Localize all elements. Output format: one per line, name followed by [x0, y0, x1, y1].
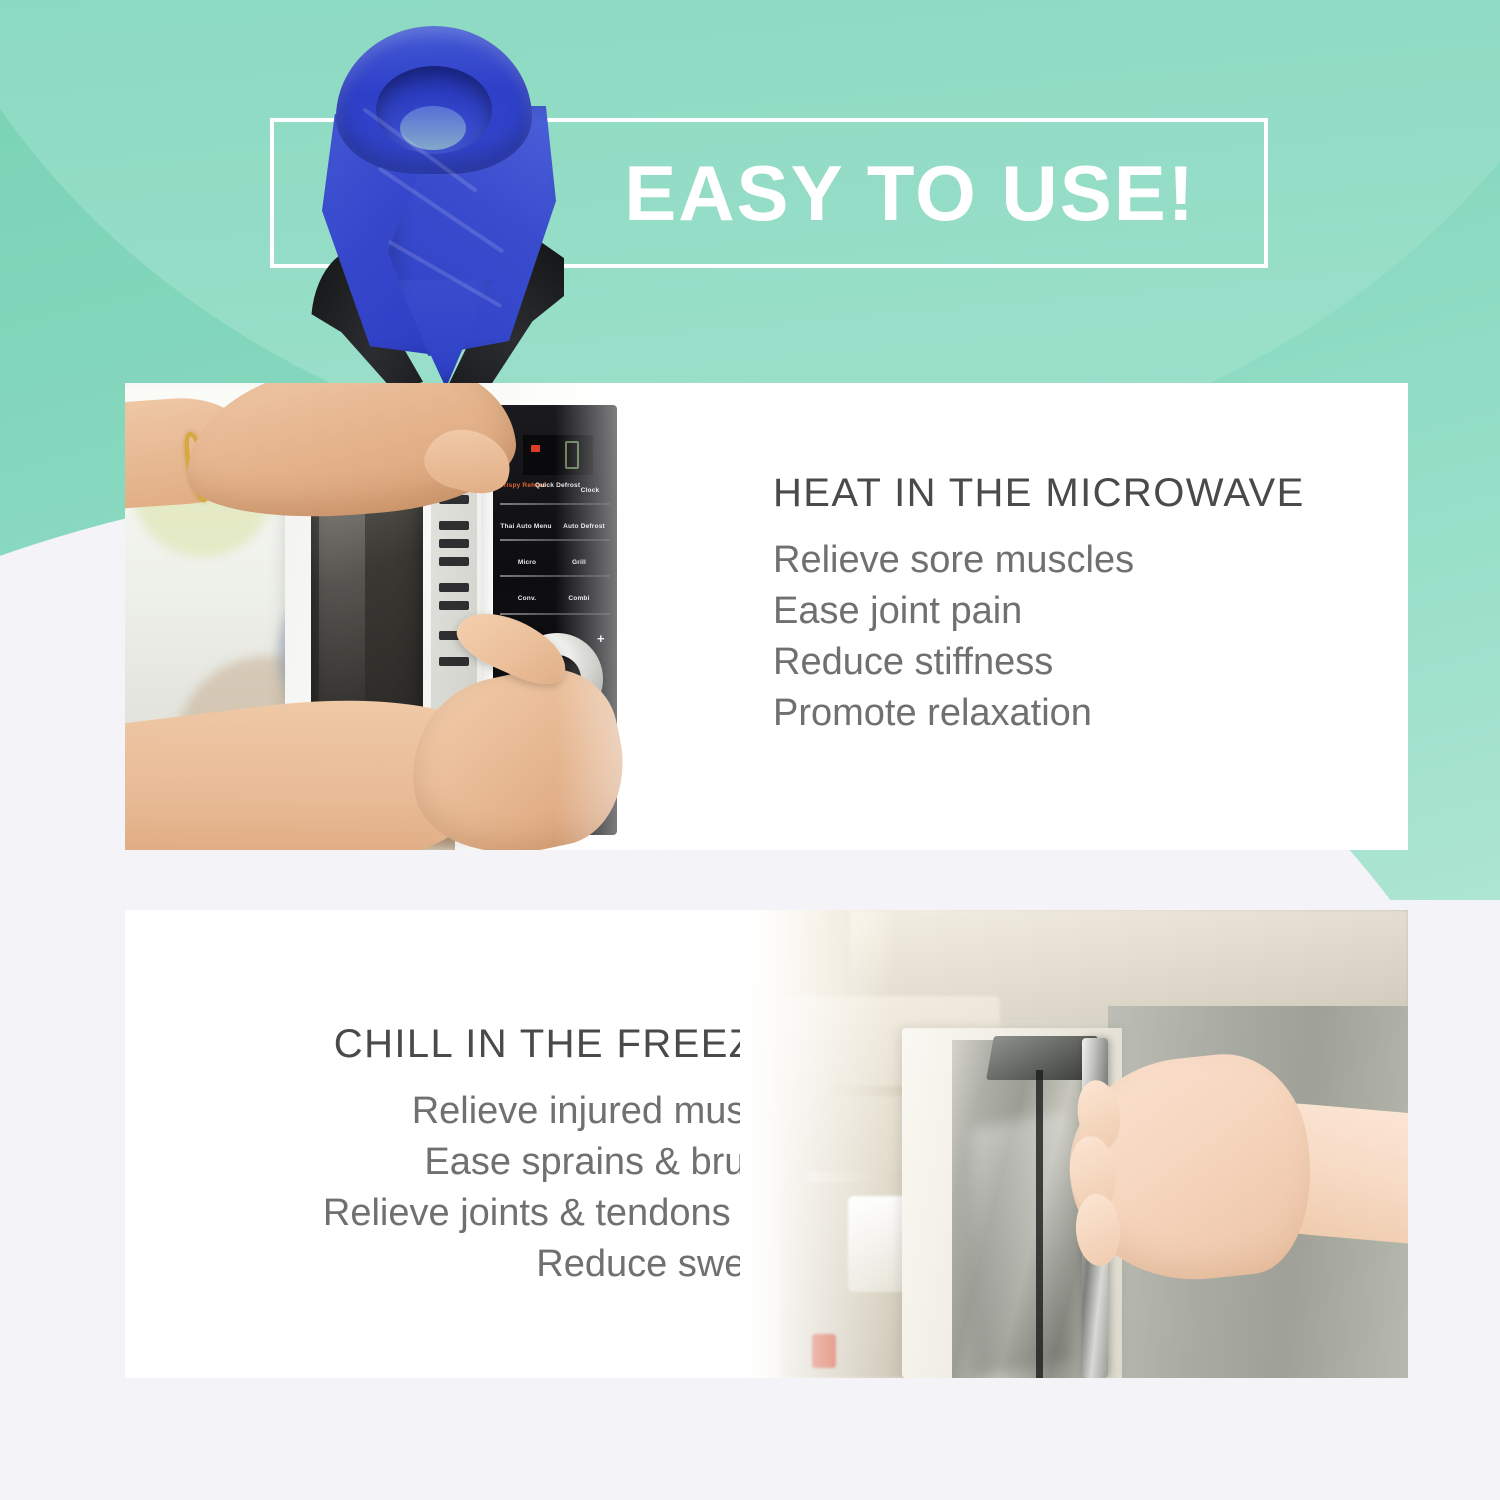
status-led-icon: [531, 445, 540, 452]
heat-text-block: HEAT IN THE MICROWAVE Relieve sore muscl…: [773, 471, 1383, 739]
freeze-heading: CHILL IN THE FREEZER: [153, 1022, 813, 1066]
benefit-item: Reduce stiffness: [773, 637, 1383, 688]
vent-slot: [439, 601, 469, 610]
door-reflection: [972, 1111, 1070, 1378]
benefit-item: Reduce swelling: [153, 1239, 813, 1290]
benefit-item: Relieve sore muscles: [773, 535, 1383, 586]
button-thai-auto-menu[interactable]: Thai Auto Menu: [497, 523, 555, 530]
heat-heading: HEAT IN THE MICROWAVE: [773, 471, 1383, 515]
button-conv[interactable]: Conv.: [507, 595, 547, 602]
wrap-collar: [336, 26, 532, 174]
benefit-item: Promote relaxation: [773, 688, 1383, 739]
vent-slot: [439, 657, 469, 666]
freeze-text-block: CHILL IN THE FREEZER Relieve injured mus…: [153, 1022, 813, 1290]
vent-slot: [439, 521, 469, 530]
benefit-item: Ease joint pain: [773, 586, 1383, 637]
button-micro[interactable]: Micro: [507, 559, 547, 566]
page-title: EASY TO USE!: [560, 130, 1260, 256]
photo-fade-edge: [555, 383, 745, 850]
benefit-item: Ease sprains & bruises: [153, 1137, 813, 1188]
door-seam: [1036, 1070, 1043, 1378]
vent-slot: [439, 539, 469, 548]
vent-slot: [439, 557, 469, 566]
vent-slot: [439, 583, 469, 592]
section-card-freeze: CHILL IN THE FREEZER Relieve injured mus…: [125, 910, 1408, 1378]
refrigerator-photo: [740, 910, 1408, 1378]
photo-fade-edge: [740, 910, 890, 1378]
product-neck-wrap-image: [296, 22, 564, 378]
section-card-heat: Crispy Reheat Quick Defrost Clock Thai A…: [125, 383, 1408, 850]
heat-benefit-list: Relieve sore muscles Ease joint pain Red…: [773, 535, 1383, 739]
benefit-item: Relieve joints & tendons pain: [153, 1188, 813, 1239]
benefit-item: Relieve injured muscles: [153, 1086, 813, 1137]
freeze-benefit-list: Relieve injured muscles Ease sprains & b…: [153, 1086, 813, 1290]
microwave-photo: Crispy Reheat Quick Defrost Clock Thai A…: [125, 383, 745, 850]
